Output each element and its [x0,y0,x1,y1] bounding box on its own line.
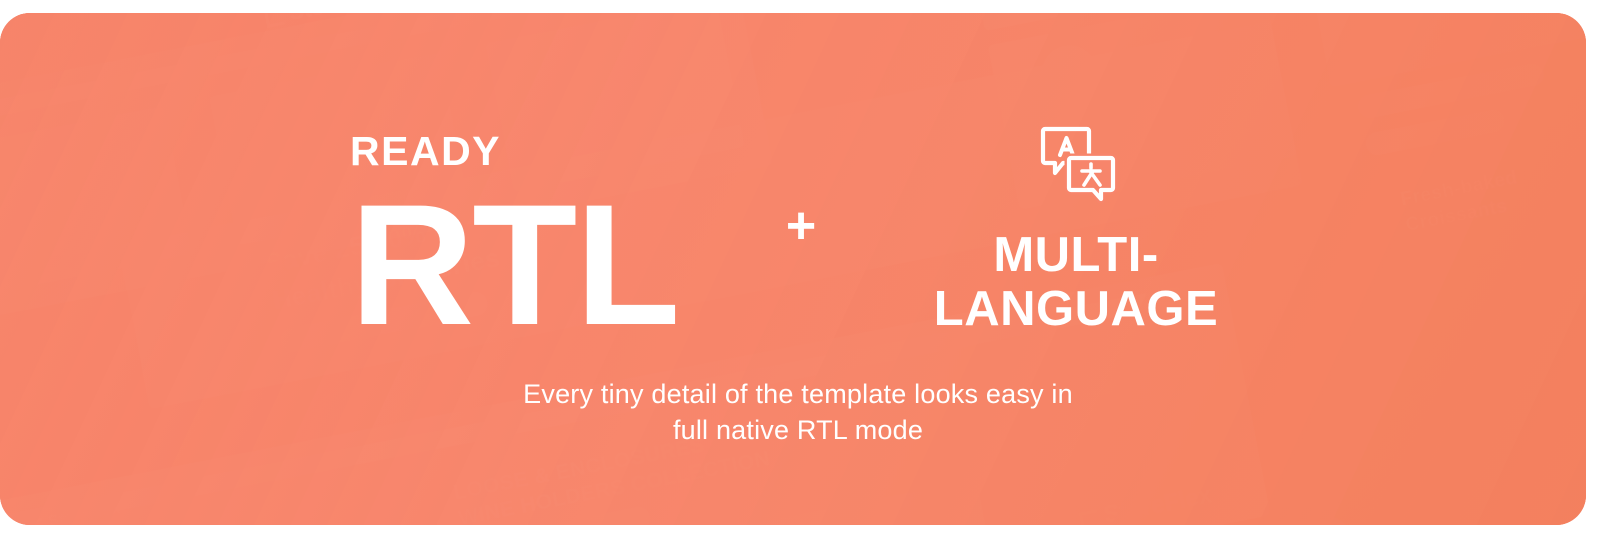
banner-kicker: READY [350,131,501,172]
banner-subtitle-line1: Every tiny detail of the template looks … [523,379,1073,409]
feature-title-line2: LANGUAGE [934,282,1218,336]
feature-title-line1: MULTI- [993,228,1158,282]
banner-subtitle-line2: full native RTL mode [673,415,923,445]
banner-content: READY RTL + MULTI- LANGUAGE Every tiny d… [0,13,1586,525]
plus-connector: + [780,205,822,247]
translate-icon [1040,125,1118,203]
banner-subtitle: Every tiny detail of the template looks … [298,376,1298,448]
rtl-promo-banner: Save 25-50% on Healthy Groceries Fresh-b… [0,13,1586,525]
feature-title: MULTI- LANGUAGE [880,228,1272,336]
banner-headline: RTL [350,179,678,351]
